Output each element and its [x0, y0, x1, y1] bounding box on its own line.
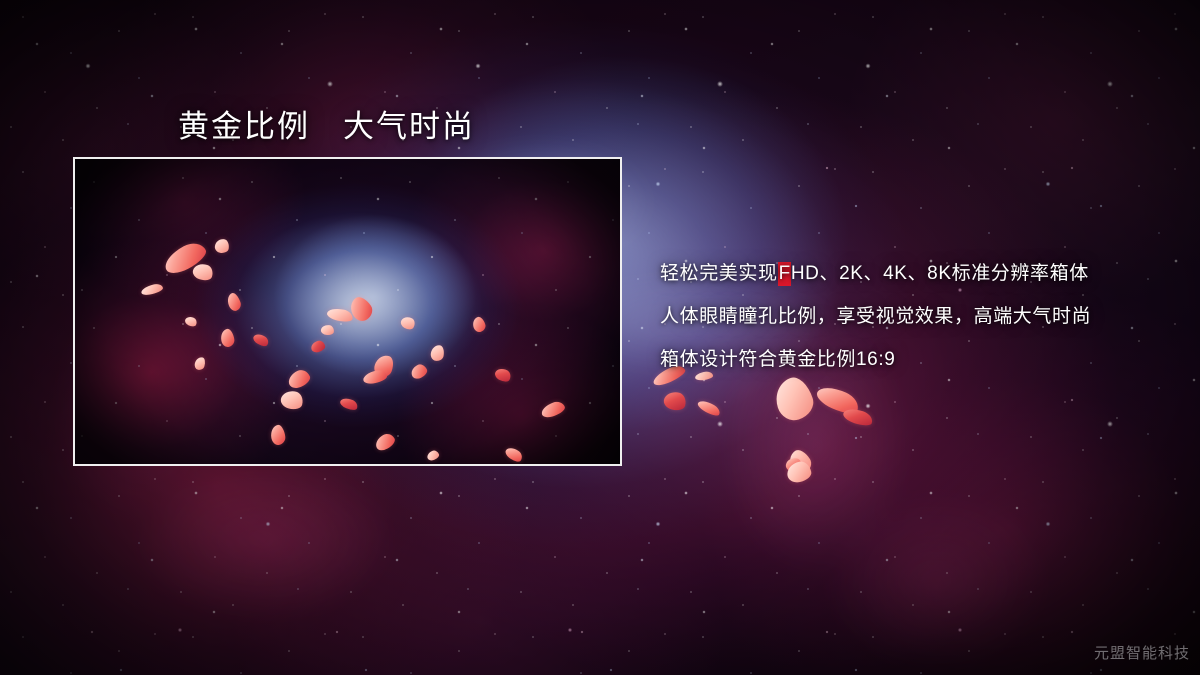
- petal-decoration: [662, 390, 688, 413]
- petal-decoration: [814, 382, 862, 418]
- frame-vignette: [75, 159, 620, 464]
- petal-decoration: [785, 457, 803, 474]
- body-line-1-suffix: HD、2K、4K、8K标准分辨率箱体: [791, 263, 1089, 284]
- highlight-letter: F: [778, 262, 791, 286]
- petal-decoration: [696, 398, 722, 418]
- page-title: 黄金比例 大气时尚: [178, 101, 475, 146]
- body-line-1: 轻松完美实现FHD、2K、4K、8K标准分辨率箱体: [660, 252, 1160, 295]
- framed-image: [75, 159, 620, 464]
- petal-decoration: [770, 373, 817, 424]
- body-line-1-prefix: 轻松完美实现: [660, 263, 778, 284]
- watermark: 元盟智能科技: [1094, 642, 1190, 663]
- body-text-block: 轻松完美实现FHD、2K、4K、8K标准分辨率箱体 人体眼睛瞳孔比例，享受视觉效…: [660, 252, 1160, 381]
- presentation-slide: 黄金比例 大气时尚 轻松完美实现FHD、2K、4K、8K标准分辨率箱体 人体眼睛…: [0, 0, 1200, 675]
- body-line-2: 人体眼睛瞳孔比例，享受视觉效果，高端大气时尚: [660, 295, 1160, 338]
- petal-decoration: [785, 447, 815, 478]
- body-line-3: 箱体设计符合黄金比例16:9: [660, 338, 1160, 381]
- petal-decoration: [842, 406, 875, 429]
- petal-decoration: [785, 460, 813, 485]
- image-frame[interactable]: [73, 157, 622, 466]
